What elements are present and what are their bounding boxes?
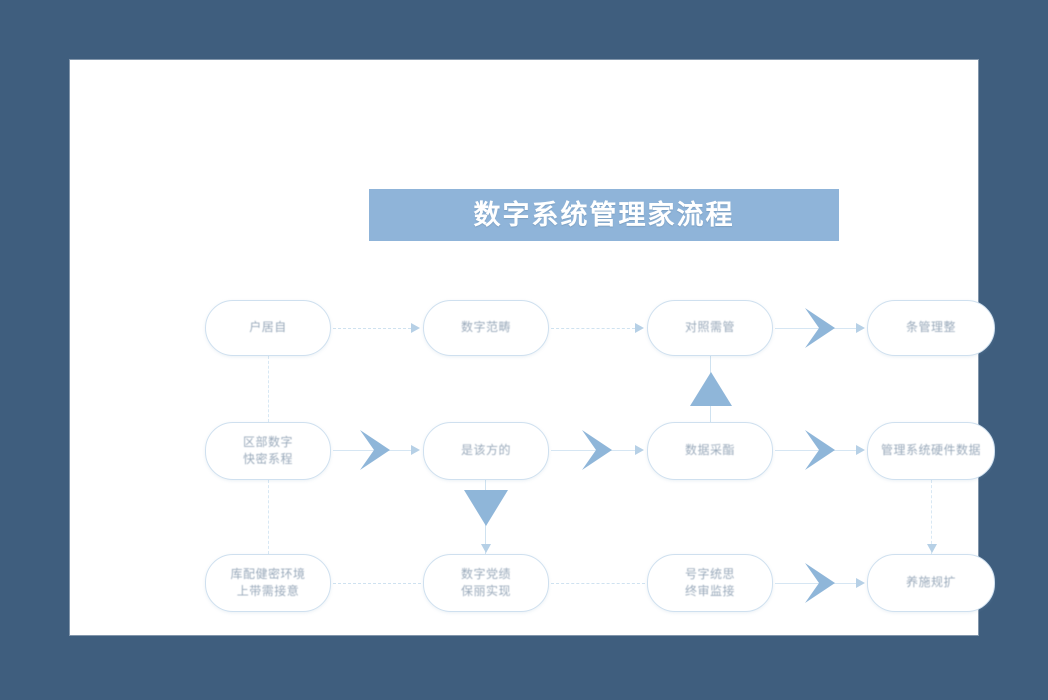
flow-node-label: 号字统思 终审监接: [679, 566, 741, 601]
flow-node-r3c4[interactable]: 养施规扩: [867, 554, 995, 612]
connector-r3c1-r3c2-line: [333, 583, 421, 584]
connector-r2c1-r2c2-arrowhead: [411, 445, 420, 455]
flow-node-label: 是该方的: [455, 442, 517, 459]
connector-r1c1-r1c2-line: [333, 328, 411, 329]
flow-node-r1c4[interactable]: 条管理整: [867, 300, 995, 356]
connector-r3c3-r3c4-chevron: [805, 561, 847, 605]
flow-node-label: 对照需管: [679, 319, 741, 336]
flow-node-r3c3[interactable]: 号字统思 终审监接: [647, 554, 773, 612]
connector-r2c2-r2c3-arrowhead: [635, 445, 644, 455]
slide-root: 数字系统管理家流程: [0, 0, 1048, 700]
flow-node-label: 数字党绩 保丽实现: [455, 566, 517, 601]
connector-r3c2-r3c3-line: [551, 583, 645, 584]
connector-r3c3-r3c4-arrowhead: [856, 578, 865, 588]
title-banner: 数字系统管理家流程: [369, 189, 839, 241]
connector-r2c4-r3c4-arrowhead: [927, 544, 937, 553]
flow-node-r3c1[interactable]: 库配健密环境 上带需接意: [205, 554, 331, 612]
connector-r2c3-r1c3-triangle: [690, 372, 732, 406]
flow-node-label: 数据采酯: [679, 442, 741, 459]
flow-node-r2c3[interactable]: 数据采酯: [647, 422, 773, 480]
connector-r1c2-r1c3-arrowhead: [635, 323, 644, 333]
connector-r2c1-r2c2-chevron: [360, 428, 402, 472]
flow-node-label: 条管理整: [900, 319, 962, 336]
slide-card: 数字系统管理家流程: [70, 60, 978, 635]
flow-node-r3c2[interactable]: 数字党绩 保丽实现: [423, 554, 549, 612]
connector-r2c2-r2c3-chevron: [582, 428, 624, 472]
flow-node-r2c1[interactable]: 区部数字 快密系程: [205, 422, 331, 480]
flow-node-r2c2[interactable]: 是该方的: [423, 422, 549, 480]
flow-node-label: 户居自: [243, 319, 293, 336]
page-title: 数字系统管理家流程: [474, 202, 735, 229]
flow-node-r1c3[interactable]: 对照需管: [647, 300, 773, 356]
connector-r2c3-r2c4-arrowhead: [856, 445, 865, 455]
flow-node-r2c4[interactable]: 管理系统硬件数据: [867, 422, 995, 480]
flow-node-label: 数字范畴: [455, 319, 517, 336]
connector-r1c2-r1c3-line: [551, 328, 635, 329]
connector-r2c3-r2c4-chevron: [805, 428, 847, 472]
connector-r1c1-r1c2-arrowhead: [411, 323, 420, 333]
connector-r2c1-r3c1-line: [268, 480, 269, 554]
connector-r2c4-r3c4-line: [931, 480, 932, 554]
connector-r2c2-r3c2-arrowhead: [481, 544, 491, 553]
flow-node-label: 库配健密环境 上带需接意: [224, 566, 311, 601]
flow-node-r1c2[interactable]: 数字范畴: [423, 300, 549, 356]
flow-node-label: 区部数字 快密系程: [237, 434, 299, 469]
flow-node-r1c1[interactable]: 户居自: [205, 300, 331, 356]
flow-node-label: 管理系统硬件数据: [875, 442, 987, 459]
connector-r2c2-r3c2-triangle: [464, 490, 508, 526]
connector-r1c3-r1c4-arrowhead: [856, 323, 865, 333]
connector-r1c3-r1c4-chevron: [805, 306, 847, 350]
flow-node-label: 养施规扩: [900, 574, 962, 591]
connector-r1c1-r2c1-line: [268, 356, 269, 422]
